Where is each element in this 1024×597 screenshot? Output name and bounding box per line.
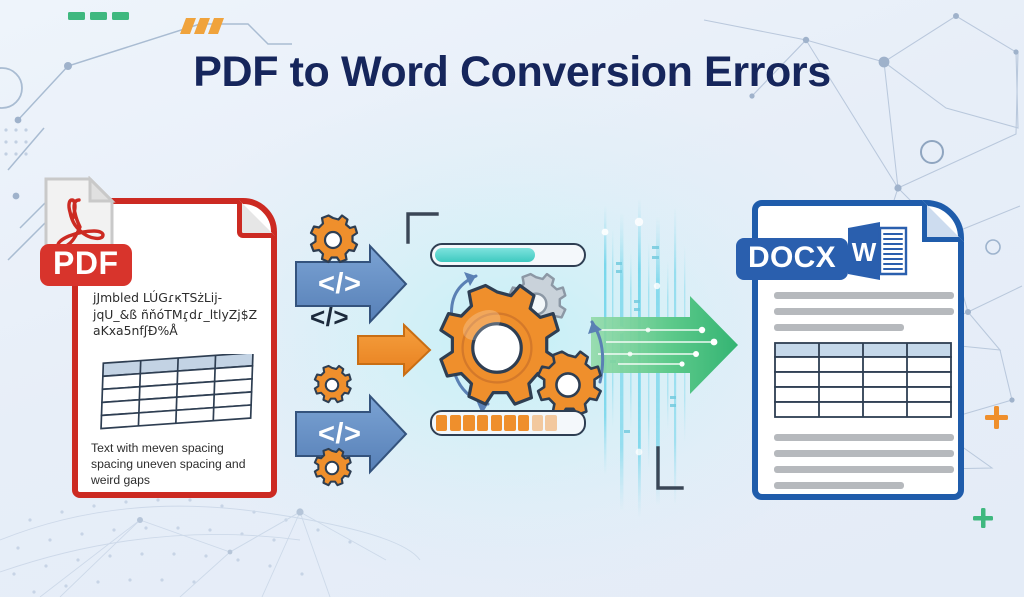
pdf-broken-table xyxy=(90,354,268,432)
corner-bracket-top-left xyxy=(408,214,437,242)
gear-main xyxy=(441,286,558,405)
docx-top-text-lines xyxy=(774,292,954,340)
gear-small-top xyxy=(311,216,357,263)
progress-segment xyxy=(450,415,461,431)
gear-small-mid xyxy=(315,366,351,402)
circuit-green-dashes xyxy=(68,12,129,20)
mesh-ring-decor xyxy=(921,141,943,163)
docx-text-line xyxy=(774,434,954,441)
circuit-dot-grid xyxy=(4,128,27,155)
docx-text-line xyxy=(774,450,954,457)
corner-bracket-bottom-right xyxy=(658,448,682,488)
gear-rotation-arcs xyxy=(452,276,603,404)
microsoft-word-icon: W xyxy=(846,220,908,282)
gear-rotation-arrowheads xyxy=(464,272,602,414)
docx-text-line xyxy=(774,292,954,299)
progress-segment xyxy=(477,415,488,431)
docx-table xyxy=(774,342,952,418)
dotted-globe-decor xyxy=(0,498,420,597)
output-arrow-green xyxy=(591,296,738,394)
code-label-middle: </> xyxy=(310,302,349,333)
progress-bar-orange[interactable] xyxy=(430,410,586,436)
pdf-page-fold xyxy=(237,198,277,238)
pdf-spacing-caption: Text with meven spacing spacing uneven s… xyxy=(91,440,266,488)
mesh-ring-decor-2 xyxy=(986,240,1000,254)
docx-text-line xyxy=(774,324,904,331)
pdf-type-badge: PDF xyxy=(40,244,132,286)
docx-page-fold xyxy=(922,200,964,242)
progress-segment xyxy=(573,415,584,431)
progress-segment xyxy=(491,415,502,431)
target-docx-document[interactable]: W DOCX xyxy=(752,200,964,500)
progress-segment xyxy=(545,415,556,431)
docx-type-badge: DOCX xyxy=(736,238,848,280)
progress-segment xyxy=(463,415,474,431)
code-arrow-top-label: </> xyxy=(318,268,361,301)
gear-small-bottom xyxy=(315,449,351,485)
code-arrow-bottom-label: </> xyxy=(318,418,361,451)
source-pdf-document[interactable]: PDF jJmbled LÚGɾкTSżLij-jqU_&ß ñňóTMɾ̧dɾ… xyxy=(72,198,277,498)
progress-segment xyxy=(504,415,515,431)
docx-text-line xyxy=(774,308,954,315)
orange-slash-decor xyxy=(180,18,224,34)
progress-bar-teal-fill xyxy=(435,248,535,262)
docx-bottom-text-lines xyxy=(774,434,954,498)
progress-segment xyxy=(518,415,529,431)
plus-mark-green xyxy=(973,508,993,528)
plus-mark-orange xyxy=(985,406,1008,429)
data-stream-lines xyxy=(602,198,686,518)
docx-text-line xyxy=(774,482,904,489)
word-glyph: W xyxy=(852,237,877,267)
gear-secondary xyxy=(538,352,601,415)
progress-bar-orange-segments xyxy=(432,412,584,434)
progress-segment xyxy=(559,415,570,431)
poster-canvas: PDF to Word Conversion Errors </> </> </… xyxy=(0,0,1024,597)
page-title: PDF to Word Conversion Errors xyxy=(0,48,1024,97)
pdf-garbled-text: jJmbled LÚGɾкTSżLij-jqU_&ß ñňóTMɾ̧dɾ_ltl… xyxy=(93,290,263,340)
progress-segment xyxy=(436,415,447,431)
plain-arrow-middle xyxy=(358,325,430,375)
progress-bar-teal[interactable] xyxy=(430,243,586,267)
docx-text-line xyxy=(774,466,954,473)
gear-gray xyxy=(509,274,565,331)
progress-segment xyxy=(532,415,543,431)
